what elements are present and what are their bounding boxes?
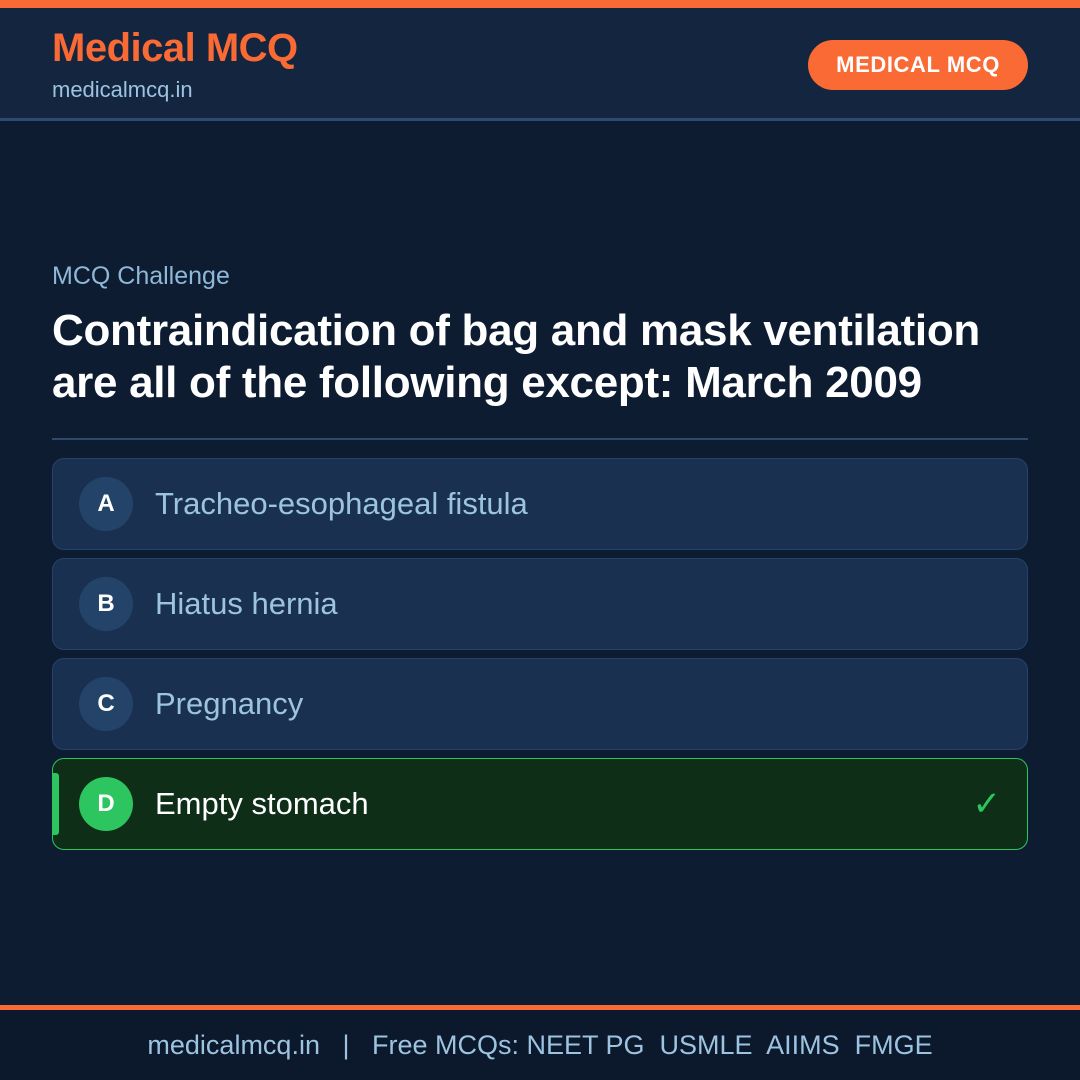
- brand-subtitle: medicalmcq.in: [52, 78, 298, 102]
- option-label: Empty stomach: [155, 787, 957, 821]
- options-list: A Tracheo-esophageal fistula ✓ B Hiatus …: [52, 458, 1028, 850]
- header-badge: MEDICAL MCQ: [808, 40, 1028, 90]
- option-d[interactable]: D Empty stomach ✓: [52, 758, 1028, 850]
- correct-accent-bar: [53, 773, 59, 835]
- top-accent-bar: [0, 0, 1080, 8]
- mcq-card: Medical MCQ medicalmcq.in MEDICAL MCQ MC…: [0, 0, 1080, 1080]
- option-label: Tracheo-esophageal fistula: [155, 487, 957, 521]
- option-letter-badge: D: [79, 777, 133, 831]
- question-block: MCQ Challenge Contraindication of bag an…: [52, 263, 1028, 440]
- brand-title: Medical MCQ: [52, 27, 298, 70]
- option-a[interactable]: A Tracheo-esophageal fistula ✓: [52, 458, 1028, 550]
- brand: Medical MCQ medicalmcq.in: [52, 27, 298, 101]
- option-letter-badge: A: [79, 477, 133, 531]
- option-c[interactable]: C Pregnancy ✓: [52, 658, 1028, 750]
- option-label: Hiatus hernia: [155, 587, 957, 621]
- footer-text: medicalmcq.in | Free MCQs: NEET PG USMLE…: [147, 1032, 932, 1059]
- option-label: Pregnancy: [155, 687, 957, 721]
- kicker-label: MCQ Challenge: [52, 263, 1028, 291]
- option-letter-badge: B: [79, 577, 133, 631]
- option-letter-badge: C: [79, 677, 133, 731]
- question-text: Contraindication of bag and mask ventila…: [52, 305, 1028, 411]
- option-b[interactable]: B Hiatus hernia ✓: [52, 558, 1028, 650]
- header: Medical MCQ medicalmcq.in MEDICAL MCQ: [0, 8, 1080, 121]
- main-content: MCQ Challenge Contraindication of bag an…: [0, 121, 1080, 1005]
- question-divider: [52, 438, 1028, 440]
- footer: medicalmcq.in | Free MCQs: NEET PG USMLE…: [0, 1010, 1080, 1080]
- check-icon: ✓: [973, 787, 1002, 821]
